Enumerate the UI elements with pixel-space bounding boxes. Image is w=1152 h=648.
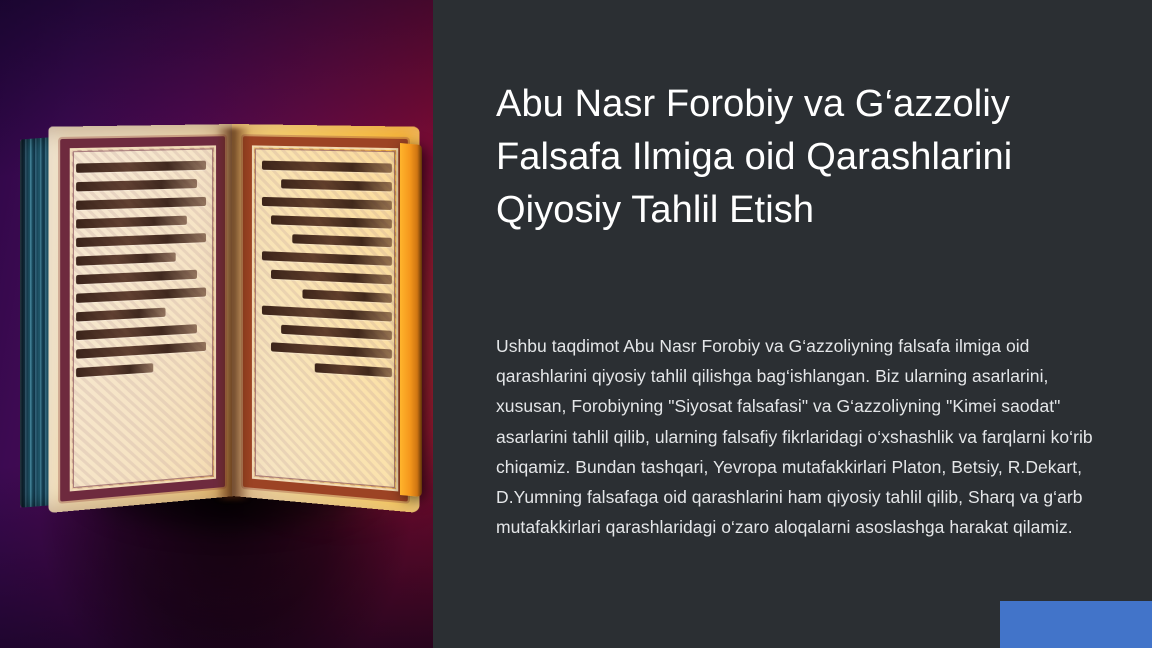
text-line bbox=[262, 197, 392, 210]
presentation-slide: Abu Nasr Forobiy va G‘azzoliy Falsafa Il… bbox=[0, 0, 1152, 648]
open-quran-book-image bbox=[20, 124, 420, 516]
text-line bbox=[282, 179, 392, 191]
arabic-text-lines-right bbox=[258, 161, 392, 486]
book-left-page bbox=[48, 124, 236, 513]
text-line bbox=[76, 216, 186, 229]
text-line bbox=[271, 215, 392, 228]
text-line bbox=[271, 270, 392, 285]
text-line bbox=[271, 342, 392, 358]
text-line bbox=[262, 161, 392, 173]
text-line bbox=[315, 363, 392, 377]
book-spine-gutter bbox=[216, 128, 250, 500]
text-line bbox=[76, 233, 206, 247]
text-line bbox=[76, 270, 197, 285]
text-line bbox=[76, 287, 206, 303]
slide-image-panel bbox=[0, 0, 433, 648]
text-line bbox=[76, 179, 197, 191]
text-line bbox=[262, 251, 392, 266]
text-line bbox=[76, 197, 206, 210]
text-line bbox=[303, 289, 392, 303]
text-line bbox=[76, 161, 206, 173]
arabic-text-lines-left bbox=[76, 161, 210, 486]
text-line bbox=[262, 306, 392, 322]
text-line bbox=[76, 324, 197, 340]
text-line bbox=[76, 363, 153, 377]
text-line bbox=[282, 325, 392, 340]
text-line bbox=[292, 234, 392, 247]
text-line bbox=[76, 252, 176, 265]
text-line bbox=[76, 308, 165, 322]
book-right-edge bbox=[400, 143, 422, 497]
slide-content-panel: Abu Nasr Forobiy va G‘azzoliy Falsafa Il… bbox=[433, 0, 1152, 648]
text-line bbox=[76, 342, 206, 359]
book-right-page bbox=[232, 124, 420, 513]
accent-bar bbox=[1000, 601, 1152, 648]
slide-body-text: Ushbu taqdimot Abu Nasr Forobiy va G‘azz… bbox=[496, 331, 1098, 542]
slide-title: Abu Nasr Forobiy va G‘azzoliy Falsafa Il… bbox=[496, 78, 1066, 237]
